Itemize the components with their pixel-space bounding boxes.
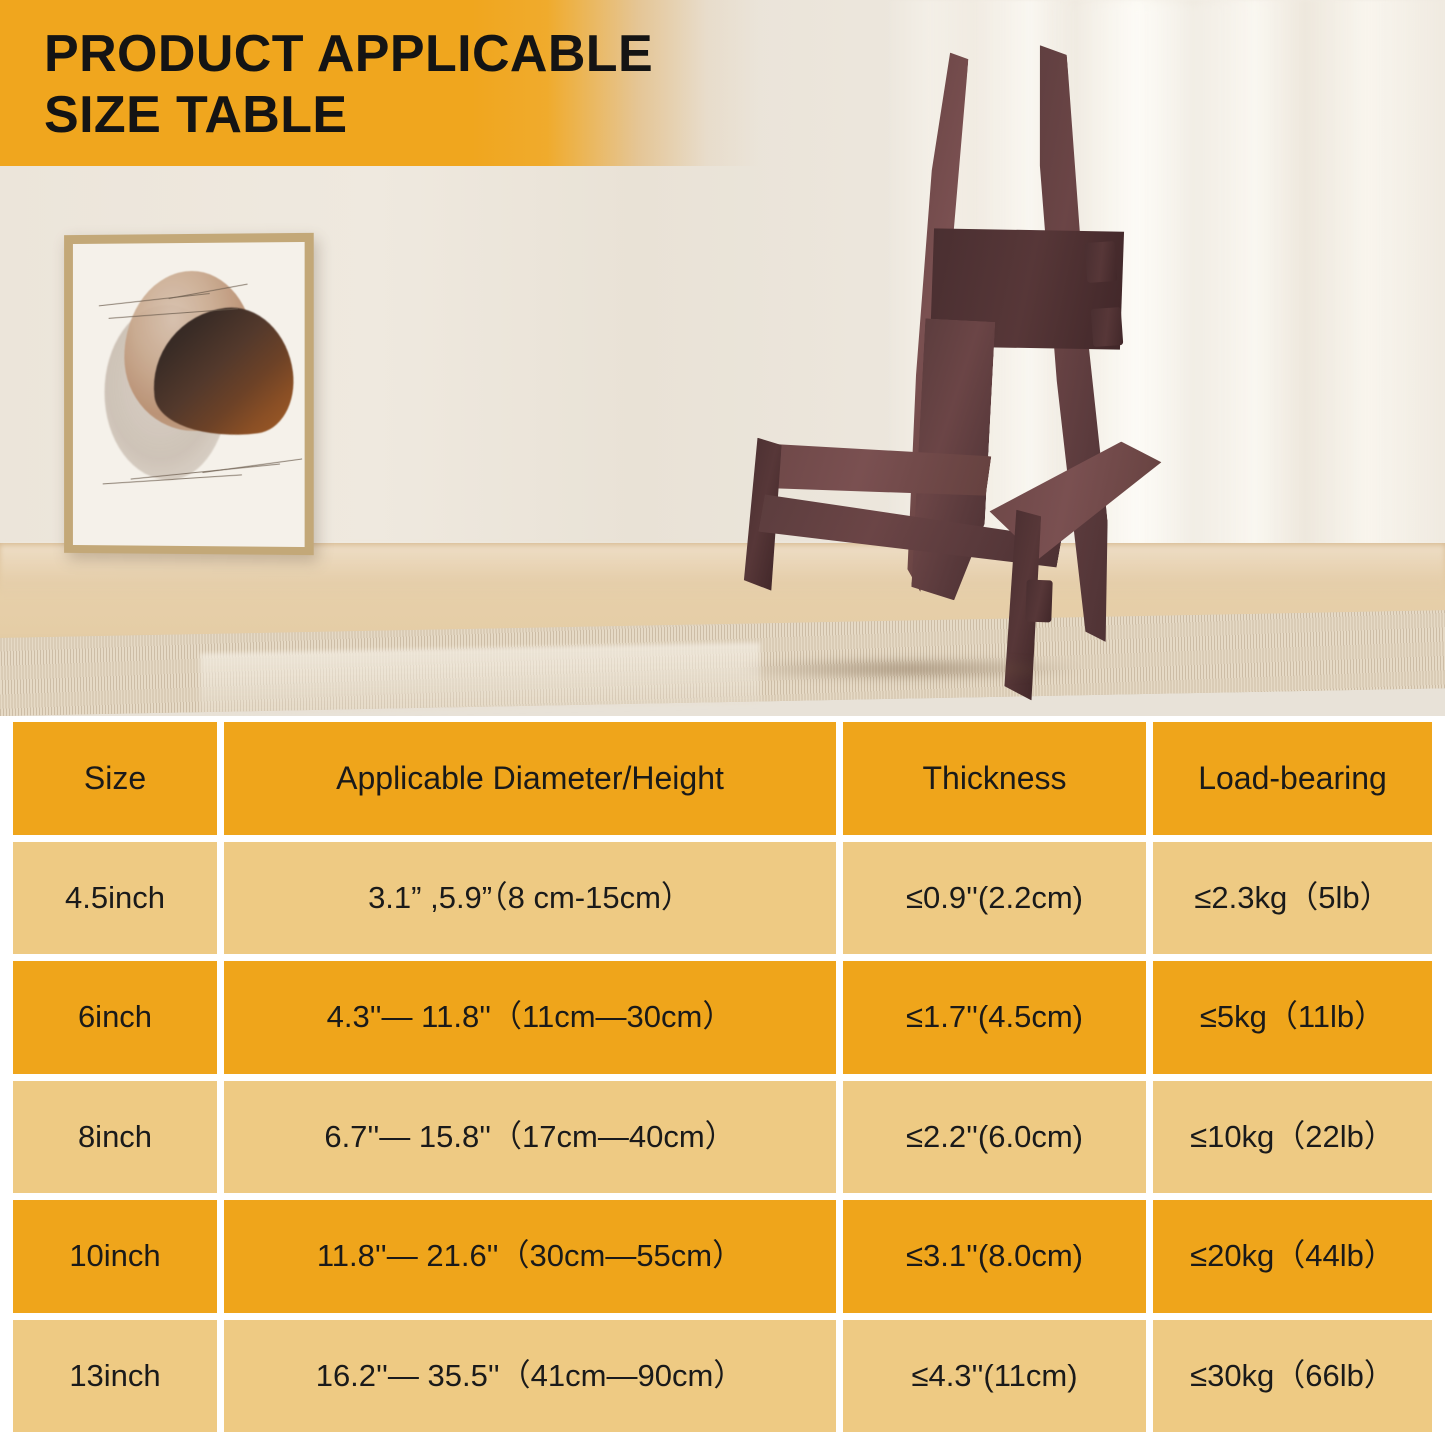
table-row: 6inch 4.3''— 11.8''（11cm—30cm） ≤1.7''(4.… (13, 961, 1432, 1074)
cell-load-bearing: ≤20kg（44lb） (1153, 1200, 1432, 1313)
cell-thickness: ≤4.3''(11cm) (843, 1320, 1146, 1433)
cell-diameter: 4.3''— 11.8''（11cm—30cm） (224, 961, 836, 1074)
cell-thickness: ≤1.7''(4.5cm) (843, 961, 1146, 1074)
cell-size: 4.5inch (13, 842, 217, 955)
column-header-size: Size (13, 722, 217, 835)
product-size-table-page: PRODUCT APPLICABLE SIZE TABLE Size Appli… (0, 0, 1445, 1436)
cell-size: 13inch (13, 1320, 217, 1433)
cell-load-bearing: ≤30kg（66lb） (1153, 1320, 1432, 1433)
artwork-canvas (73, 242, 305, 547)
cell-load-bearing: ≤2.3kg（5lb） (1153, 842, 1432, 955)
cell-load-bearing: ≤10kg（22lb） (1153, 1081, 1432, 1194)
table-header-row: Size Applicable Diameter/Height Thicknes… (13, 722, 1432, 835)
cell-thickness: ≤3.1''(8.0cm) (843, 1200, 1146, 1313)
column-header-diameter: Applicable Diameter/Height (224, 722, 836, 835)
table-row: 13inch 16.2''— 35.5''（41cm—90cm） ≤4.3''(… (13, 1320, 1432, 1433)
wooden-easel-stand (700, 20, 1220, 716)
cell-size: 8inch (13, 1081, 217, 1194)
product-lifestyle-photo: PRODUCT APPLICABLE SIZE TABLE (0, 0, 1445, 716)
table-row: 10inch 11.8''— 21.6''（30cm—55cm） ≤3.1''(… (13, 1200, 1432, 1313)
table-row: 8inch 6.7''— 15.8''（17cm—40cm） ≤2.2''(6.… (13, 1081, 1432, 1194)
cell-load-bearing: ≤5kg（11lb） (1153, 961, 1432, 1074)
cell-diameter: 16.2''— 35.5''（41cm—90cm） (224, 1320, 836, 1433)
stand-slot-tab-lower (1025, 580, 1052, 623)
stand-shadow (740, 656, 1080, 682)
art-line-6 (202, 458, 302, 473)
cell-diameter: 11.8''— 21.6''（30cm—55cm） (224, 1200, 836, 1313)
column-header-thickness: Thickness (843, 722, 1146, 835)
framed-artwork (64, 233, 314, 555)
cell-size: 10inch (13, 1200, 217, 1313)
stand-slot-tab-mid (1091, 307, 1124, 347)
cell-size: 6inch (13, 961, 217, 1074)
cell-thickness: ≤2.2''(6.0cm) (843, 1081, 1146, 1194)
title-banner: PRODUCT APPLICABLE SIZE TABLE (0, 0, 760, 166)
cell-diameter: 6.7''— 15.8''（17cm—40cm） (224, 1081, 836, 1194)
page-title: PRODUCT APPLICABLE SIZE TABLE (44, 24, 744, 146)
cell-thickness: ≤0.9''(2.2cm) (843, 842, 1146, 955)
column-header-load-bearing: Load-bearing (1153, 722, 1432, 835)
stand-slot-tab-upper (1085, 241, 1118, 283)
cell-diameter: 3.1” ,5.9”（8 cm-15cm） (224, 842, 836, 955)
table-row: 4.5inch 3.1” ,5.9”（8 cm-15cm） ≤0.9''(2.2… (13, 842, 1432, 955)
size-table: Size Applicable Diameter/Height Thicknes… (0, 716, 1445, 1436)
rug-light-band (200, 643, 760, 716)
